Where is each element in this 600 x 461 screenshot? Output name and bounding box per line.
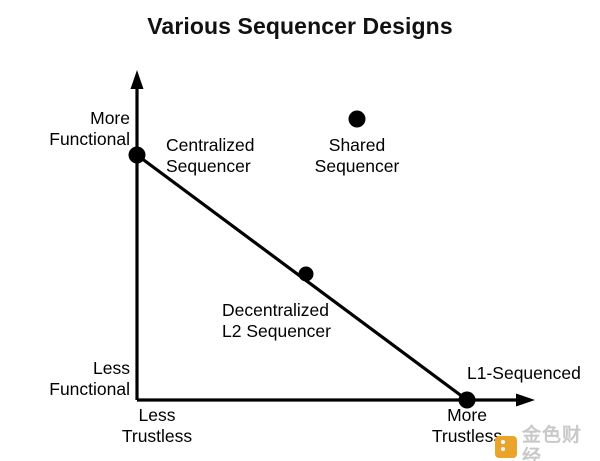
data-point-shared-sequencer[interactable]	[349, 111, 366, 128]
data-point-centralized-sequencer[interactable]	[129, 147, 146, 164]
data-point-decentralized-l2-sequencer[interactable]	[299, 267, 314, 282]
y-axis	[131, 70, 144, 400]
watermark-text: 金色财经	[522, 425, 600, 461]
axis-label-less-functional: Less Functional	[18, 358, 130, 400]
axis-label-more-functional: More Functional	[18, 108, 130, 150]
watermark: 金色财经	[495, 425, 600, 461]
point-label-l1-sequenced: L1-Sequenced	[467, 363, 581, 384]
axis-label-less-trustless: Less Trustless	[97, 405, 217, 447]
point-label-decentralized-l2-sequencer: Decentralized L2 Sequencer	[222, 300, 331, 342]
chart-canvas: Various Sequencer Designs More Functiona…	[0, 0, 600, 461]
watermark-logo-icon	[495, 436, 517, 458]
point-label-centralized-sequencer: Centralized Sequencer	[166, 135, 255, 177]
point-label-shared-sequencer: Shared Sequencer	[297, 135, 417, 177]
